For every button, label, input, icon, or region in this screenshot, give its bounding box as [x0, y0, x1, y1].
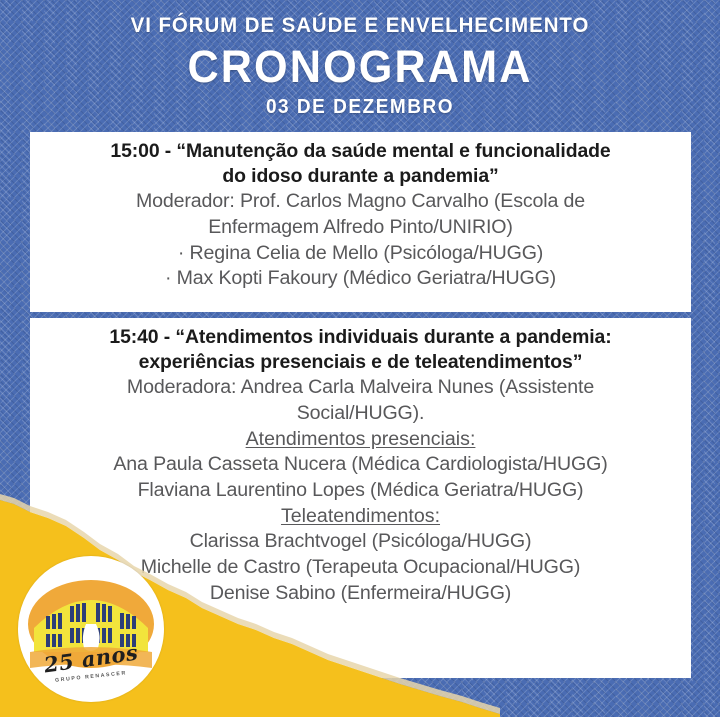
session-1-line-1: Moderador: Prof. Carlos Magno Carvalho (… [40, 189, 681, 215]
session-2-group-2-name-1: Clarissa Brachtvogel (Psicóloga/HUGG) [40, 529, 681, 555]
session-2-title-line-1: 15:40 - “Atendimentos individuais durant… [40, 325, 681, 350]
session-2-line-2: Social/HUGG). [40, 401, 681, 427]
session-2-group-1-heading: Atendimentos presenciais: [40, 427, 681, 453]
poster-canvas: VI FÓRUM DE SAÚDE E ENVELHECIMENTO CRONO… [0, 0, 720, 717]
session-1-line-2: Enfermagem Alfredo Pinto/UNIRIO) [40, 215, 681, 241]
session-2-group-2-heading: Teleatendimentos: [40, 504, 681, 530]
session-1-speaker-2: · Max Kopti Fakoury (Médico Geriatra/HUG… [40, 266, 681, 292]
session-card-1: 15:00 - “Manutenção da saúde mental e fu… [30, 132, 691, 312]
session-2-line-1: Moderadora: Andrea Carla Malveira Nunes … [40, 375, 681, 401]
session-2-group-1-name-2: Flaviana Laurentino Lopes (Médica Geriat… [40, 478, 681, 504]
session-1-title-line-1: 15:00 - “Manutenção da saúde mental e fu… [40, 139, 681, 164]
session-2-title-line-2: experiências presenciais e de teleatendi… [40, 350, 681, 375]
session-1-speaker-1: · Regina Celia de Mello (Psicóloga/HUGG) [40, 241, 681, 267]
page-title: CRONOGRAMA [14, 42, 705, 92]
poster-header: VI FÓRUM DE SAÚDE E ENVELHECIMENTO CRONO… [0, 14, 720, 119]
session-1-title-line-2: do idoso durante a pandemia” [40, 164, 681, 189]
anniversary-logo: 25 anos GRUPO RENASCER [18, 556, 164, 702]
event-date: 03 DE DEZEMBRO [18, 96, 702, 119]
session-2-group-1-name-1: Ana Paula Casseta Nucera (Médica Cardiol… [40, 452, 681, 478]
event-kicker: VI FÓRUM DE SAÚDE E ENVELHECIMENTO [18, 14, 702, 37]
